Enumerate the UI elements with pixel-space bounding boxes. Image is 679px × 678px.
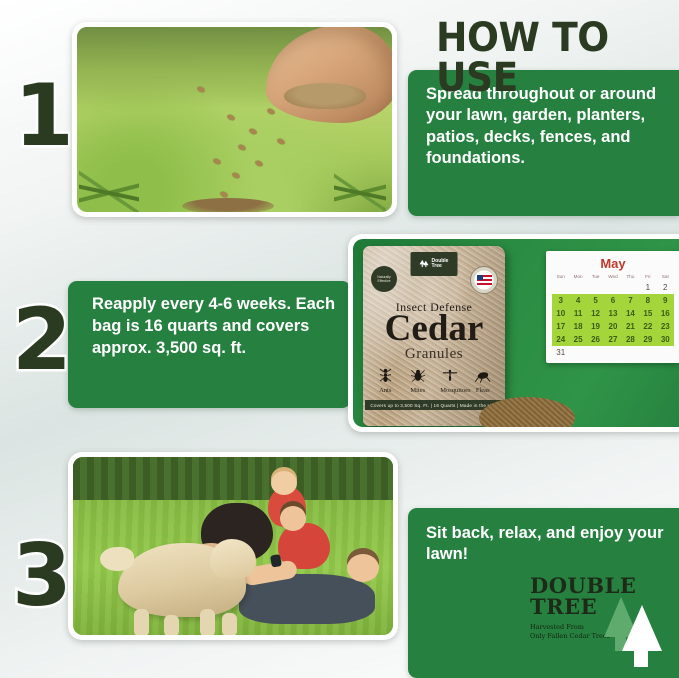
brand-tagline-line-2: Only Fallen Cedar Trees [530, 632, 610, 640]
calendar-day-highlighted: 3 [552, 294, 569, 307]
brand-lockup: DOUBLE TREE Harvested From Only Fallen C… [530, 575, 679, 655]
photo-family-image [73, 457, 393, 635]
pest-item: Mosquitoes [440, 368, 460, 394]
step-3-number: 3 [12, 533, 70, 619]
calendar-day-highlighted: 21 [622, 320, 639, 333]
calendar-day: 2 [657, 281, 674, 294]
calendar-day-highlighted: 6 [604, 294, 621, 307]
calendar-weekday-header: Thu [622, 274, 639, 281]
calendar-day-highlighted: 11 [569, 307, 586, 320]
calendar-weekday-header: Mon [569, 274, 586, 281]
grass-tuft [334, 170, 386, 212]
granule-particle [254, 160, 263, 168]
pest-label: Mosquitoes [440, 387, 460, 394]
calendar-day-highlighted: 15 [639, 307, 656, 320]
pest-item: Mites [408, 368, 428, 394]
granule-particle [237, 144, 246, 152]
brand-tagline-line-1: Harvested From [530, 623, 584, 631]
calendar-may: May SunMonTueWedThuFriSat 12345678910111… [546, 251, 679, 363]
bag-text-granules: Granules [363, 346, 505, 363]
calendar-day-highlighted: 20 [604, 320, 621, 333]
calendar-day-highlighted: 10 [552, 307, 569, 320]
mosquito-icon [440, 368, 460, 386]
calendar-blank-cell [569, 281, 586, 294]
calendar-day-highlighted: 13 [604, 307, 621, 320]
brand-name-line-2: TREE [530, 594, 597, 619]
bag-brand-logo-text: Double Tree [432, 259, 449, 270]
dog-head [210, 539, 256, 579]
person-toddler-head [271, 471, 297, 495]
granule-particle [212, 158, 221, 166]
person-father [239, 574, 375, 624]
calendar-blank-cell [604, 281, 621, 294]
photo-product-and-calendar: Double Tree Naturally Effective Insect D… [348, 234, 679, 432]
bag-badge-left: Naturally Effective [371, 266, 397, 292]
bag-tree-icon [420, 255, 429, 273]
granule-particle [231, 172, 240, 180]
calendar-day-highlighted: 5 [587, 294, 604, 307]
calendar-weekday-header: Sun [552, 274, 569, 281]
tree-front-trunk [634, 647, 648, 667]
bag-badge-made-in-usa [470, 266, 498, 294]
calendar-day-highlighted: 22 [639, 320, 656, 333]
hedge-background [73, 457, 393, 500]
calendar-day-highlighted: 25 [569, 333, 586, 346]
photo-spreading-granules [72, 22, 397, 217]
calendar-day-highlighted: 26 [587, 333, 604, 346]
calendar-day-highlighted: 30 [657, 333, 674, 346]
person-boy-head [280, 506, 306, 531]
calendar-day-highlighted: 4 [569, 294, 586, 307]
dog-leg [164, 615, 179, 635]
granule-pile-on-ground [182, 198, 274, 212]
calendar-blank-cell [587, 281, 604, 294]
grass-tuft [79, 170, 139, 212]
calendar-day-highlighted: 16 [657, 307, 674, 320]
calendar-day-highlighted: 19 [587, 320, 604, 333]
step-1-number: 1 [14, 73, 72, 159]
calendar-day-highlighted: 18 [569, 320, 586, 333]
brand-tree-icon [602, 581, 664, 651]
pest-item: Ants [375, 368, 395, 394]
calendar-blank-cell [622, 281, 639, 294]
granule-handful [284, 83, 366, 109]
step-2-number: 2 [12, 297, 70, 383]
calendar-grid: SunMonTueWedThuFriSat 123456789101112131… [552, 274, 674, 359]
step-2-text: Reapply every 4-6 weeks. Each bag is 16 … [92, 295, 335, 357]
ant-icon [375, 368, 395, 386]
granule-particle [276, 138, 285, 146]
how-to-use-infographic: 1 Spread throughout or around your lawn,… [0, 0, 679, 678]
granule-particle [266, 108, 275, 116]
calendar-day-highlighted: 8 [639, 294, 656, 307]
calendar-day: 1 [639, 281, 656, 294]
calendar-day-highlighted: 17 [552, 320, 569, 333]
bag-brand-line-2: Tree [432, 263, 442, 269]
pest-label: Fleas [473, 387, 493, 394]
calendar-day-highlighted: 29 [639, 333, 656, 346]
photo-product-image: Double Tree Naturally Effective Insect D… [353, 239, 679, 427]
calendar-blank-cell [552, 281, 569, 294]
page-title: HOW TO USE [436, 18, 664, 98]
photo-spreading-granules-image [77, 27, 392, 212]
calendar-day-highlighted: 24 [552, 333, 569, 346]
calendar-month-label: May [552, 256, 674, 271]
calendar-weekday-header: Fri [639, 274, 656, 281]
calendar-day-highlighted: 12 [587, 307, 604, 320]
pest-label: Ants [375, 387, 395, 394]
usa-flag-icon [477, 275, 492, 285]
calendar-day-highlighted: 7 [622, 294, 639, 307]
calendar-day-highlighted: 9 [657, 294, 674, 307]
calendar-day-highlighted: 28 [622, 333, 639, 346]
calendar-weekday-header: Tue [587, 274, 604, 281]
dog-leg [222, 613, 237, 635]
flea-icon [473, 369, 493, 386]
mite-icon [408, 368, 428, 386]
step-2-callout: Reapply every 4-6 weeks. Each bag is 16 … [68, 281, 351, 408]
pest-label: Mites [408, 387, 428, 394]
calendar-weekday-header: Wed [604, 274, 621, 281]
dog-leg [134, 609, 149, 635]
bag-brand-logo: Double Tree [411, 252, 458, 276]
dog-leg [200, 609, 215, 635]
calendar-weekday-header: Sat [657, 274, 674, 281]
pest-item: Fleas [473, 369, 493, 394]
granule-particle [248, 128, 257, 136]
dog-tail [100, 547, 134, 571]
product-bag: Double Tree Naturally Effective Insect D… [363, 246, 505, 426]
calendar-day-highlighted: 23 [657, 320, 674, 333]
photo-family-with-dog [68, 452, 398, 640]
step-3-text: Sit back, relax, and enjoy your lawn! [426, 524, 664, 563]
calendar-day-highlighted: 27 [604, 333, 621, 346]
granule-particle [226, 114, 235, 122]
calendar-day-highlighted: 14 [622, 307, 639, 320]
bag-pest-icons: Ants Mites [369, 368, 499, 394]
bag-text-cedar: Cedar [363, 310, 505, 347]
calendar-day: 31 [552, 346, 569, 359]
tree-front-shape [622, 605, 662, 651]
